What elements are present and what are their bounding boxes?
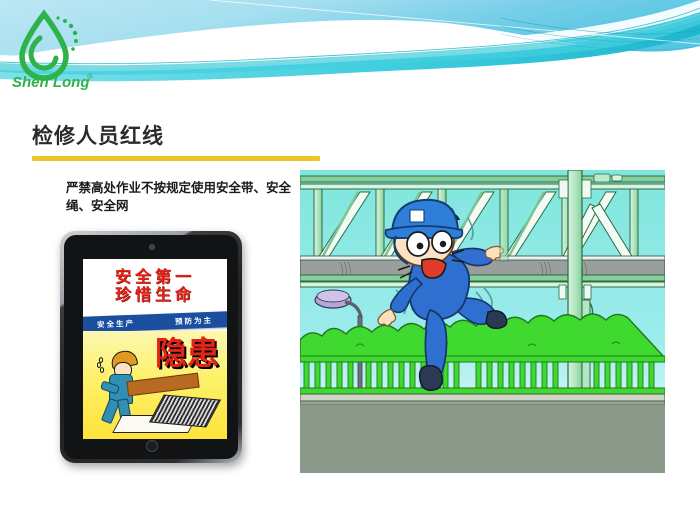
mid-rail-2 — [300, 282, 665, 287]
sweat-drops-icon — [97, 357, 111, 375]
falling-worker-illustration: 图片水印 — [300, 170, 665, 478]
poster-wood-plank — [126, 373, 199, 397]
illustration-watermark: 图片水印 — [625, 464, 661, 475]
poster-illustration: 隐患 — [83, 331, 227, 439]
wall-coping — [300, 394, 665, 401]
home-button[interactable] — [146, 440, 158, 452]
trademark-symbol: ® — [87, 72, 93, 81]
railing-bottom-bar — [300, 388, 665, 394]
tablet-bezel: 安全第一 珍惜生命 安全生产 预防为主 — [64, 235, 238, 459]
brand-logo: Shen Long ® — [10, 8, 102, 90]
camera-icon — [149, 244, 155, 250]
warning-text: 严禁高处作业不按规定使用安全带、安全绳、安全网 — [66, 180, 301, 216]
poster-hazard-word: 隐患 — [155, 337, 219, 369]
top-rail-2 — [300, 184, 665, 189]
poster-banner-right: 预防为主 — [175, 314, 213, 326]
foreground-post-overlay — [500, 189, 508, 261]
tablet-device: 安全第一 珍惜生命 安全生产 预防为主 — [60, 231, 242, 463]
wall-coping-shadow — [300, 401, 665, 405]
header-decoration — [0, 0, 700, 96]
mid-rail — [300, 275, 665, 281]
illus-bottom-edge — [300, 473, 665, 478]
worker-pupil-left — [417, 243, 424, 250]
helmet-badge — [410, 210, 424, 222]
poster-banner-left: 安全生产 — [97, 317, 135, 329]
header-fade — [0, 84, 700, 96]
title-underline — [32, 156, 320, 161]
tablet-screen: 安全第一 珍惜生命 安全生产 预防为主 — [83, 259, 227, 439]
poster-headline-line1: 安全第一 — [83, 259, 227, 287]
poster-manhole-grate — [149, 394, 221, 427]
brand-wordmark: Shen Long — [12, 74, 90, 90]
worker-pupil-right — [440, 241, 446, 247]
poster-headline-line2: 珍惜生命 — [83, 287, 227, 305]
page-title: 检修人员红线 — [32, 120, 164, 150]
ground-wall — [300, 405, 665, 473]
slide-canvas: Shen Long ® 检修人员红线 严禁高处作业不按规定使用安全带、安全绳、安… — [0, 0, 700, 525]
worker-shoe-left — [420, 366, 443, 391]
water-drop-swirl-icon — [31, 38, 56, 68]
worker-shoe-right — [486, 311, 507, 329]
railing-top-bar — [300, 356, 665, 362]
pole-top-fitting — [594, 174, 622, 182]
